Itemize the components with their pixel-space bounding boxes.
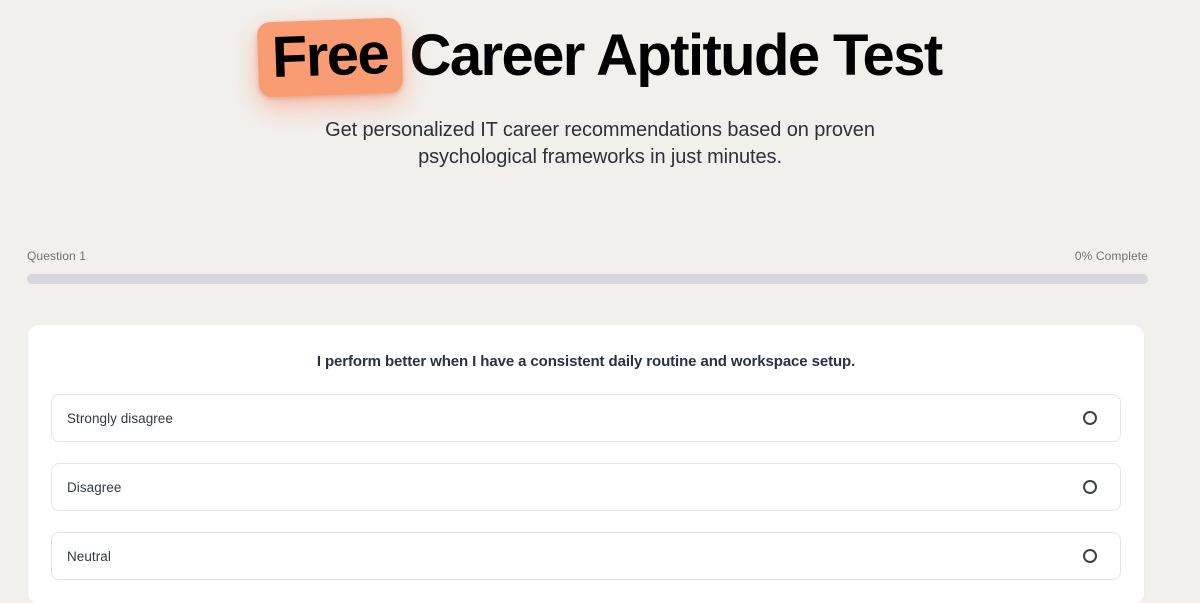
free-badge: Free bbox=[257, 18, 404, 98]
progress-percent-label: 0% Complete bbox=[1075, 249, 1148, 263]
answer-option[interactable]: Strongly disagree bbox=[51, 394, 1121, 442]
answer-option-label: Neutral bbox=[67, 549, 111, 564]
page-subtitle: Get personalized IT career recommendatio… bbox=[270, 117, 930, 171]
answer-options-list: Strongly disagreeDisagreeNeutral bbox=[51, 394, 1121, 580]
radio-icon[interactable] bbox=[1083, 411, 1097, 425]
progress-bar bbox=[27, 274, 1148, 284]
question-card: I perform better when I have a consisten… bbox=[27, 324, 1145, 603]
progress-labels: Question 1 0% Complete bbox=[27, 249, 1148, 263]
radio-icon[interactable] bbox=[1083, 549, 1097, 563]
answer-option-label: Disagree bbox=[67, 480, 121, 495]
career-aptitude-test-page: FreeCareer Aptitude Test Get personalize… bbox=[0, 0, 1200, 603]
page-title-rest: Career Aptitude Test bbox=[410, 23, 942, 88]
page-title: FreeCareer Aptitude Test bbox=[250, 20, 950, 95]
answer-option[interactable]: Neutral bbox=[51, 532, 1121, 580]
answer-option[interactable]: Disagree bbox=[51, 463, 1121, 511]
hero-section: FreeCareer Aptitude Test Get personalize… bbox=[0, 0, 1200, 170]
progress-section: Question 1 0% Complete bbox=[27, 249, 1148, 284]
question-text: I perform better when I have a consisten… bbox=[51, 353, 1121, 370]
question-counter: Question 1 bbox=[27, 249, 86, 263]
radio-icon[interactable] bbox=[1083, 480, 1097, 494]
answer-option-label: Strongly disagree bbox=[67, 411, 173, 426]
